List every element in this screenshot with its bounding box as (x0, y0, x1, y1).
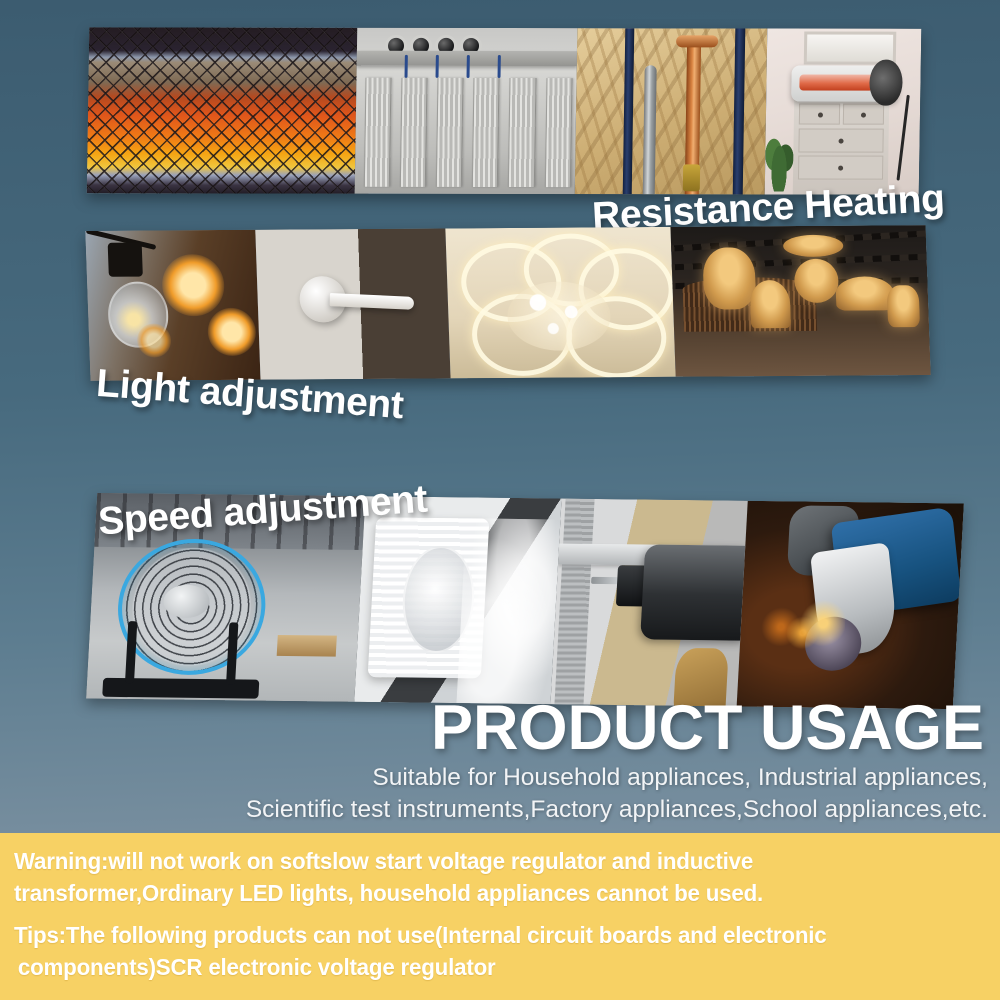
light-adjustment-photo-strip (85, 225, 931, 381)
led-flower-ceiling-lamp-image (445, 227, 675, 378)
page-title: PRODUCT USAGE (0, 692, 984, 764)
wall-exhaust-fan-image (354, 496, 561, 704)
room-patio-heater-image (765, 28, 922, 194)
copper-pipes-wall-image (575, 28, 768, 194)
usage-description-line-1: Suitable for Household appliances, Indus… (0, 762, 988, 794)
resistance-heating-photo-strip (87, 27, 922, 194)
product-usage-marketing-image: Resistance Heating (0, 0, 1000, 1000)
warning-banner: Warning:will not work on softslow start … (0, 833, 1000, 1000)
warning-line-1: Warning:will not work on softslow start … (14, 847, 957, 876)
tips-line-2: components)SCR electronic voltage regula… (14, 953, 957, 982)
usage-description: Suitable for Household appliances, Indus… (0, 762, 988, 827)
warning-line-2: transformer,Ordinary LED lights, househo… (14, 879, 957, 908)
warning-text-block: Warning:will not work on softslow start … (14, 847, 986, 909)
string-lights-bulb-image (85, 230, 260, 381)
industrial-resistor-bank-image (355, 28, 578, 194)
power-drill-image (550, 499, 747, 707)
angle-grinder-sparks-image (737, 501, 964, 709)
usage-description-line-2: Scientific test instruments,Factory appl… (0, 794, 988, 826)
rattan-pendant-lamps-image (670, 225, 930, 377)
tips-text-block: Tips:The following products can not use(… (14, 921, 986, 983)
heater-grille-glow-image (87, 27, 358, 193)
wall-sconce-image (255, 228, 450, 379)
tips-line-1: Tips:The following products can not use(… (14, 921, 957, 950)
